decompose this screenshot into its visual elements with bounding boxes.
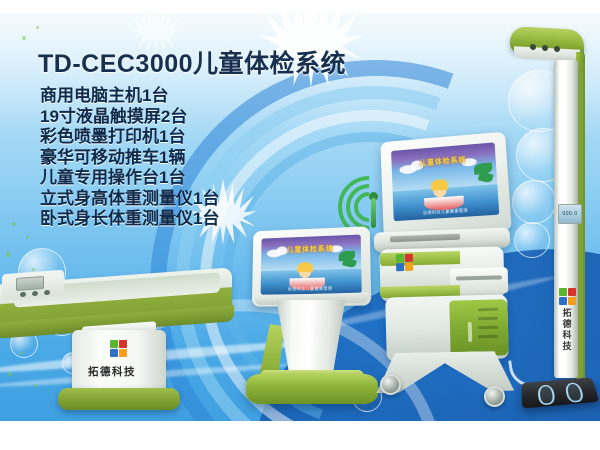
brand-logo-text-vertical: 拓德科技 [560,308,574,352]
kiosk-screen[interactable]: 儿童体检系统 拓德科技儿童健康管理 [261,235,362,295]
device-standing-height-weight-analyzer: 000.0 拓德科技 [492,22,600,422]
spec-item: 豪华可移动推车1辆 [40,148,219,169]
stadiometer-lcd-value: 000.0 [559,205,581,223]
footprint-icon [537,384,556,405]
bed-control-display [16,276,44,291]
spec-item: 卧式身长体重测量仪1台 [40,209,219,230]
cart-screen[interactable]: 儿童体检系统 拓德科技儿童健康管理 [391,142,499,221]
stadiometer-lcd-display: 000.0 [558,204,582,224]
brand-logo-mark [559,288,576,305]
bed-base [58,388,180,410]
stadiometer-sensor [530,44,536,50]
brand-logo-text: 拓德科技 [88,364,136,379]
decor-dot [22,36,26,40]
top-white-border [0,0,600,13]
bottom-white-border [0,421,600,450]
decor-dot [6,252,11,257]
cart-caster-wheel [380,374,401,395]
decor-dot [36,26,39,29]
kiosk-base [246,374,378,404]
cart-green-band [380,251,460,266]
spec-item: 儿童专用操作台1台 [40,168,219,189]
spec-list: 商用电脑主机1台 19寸液晶触摸屏2台 彩色喷墨打印机1台 豪华可移动推车1辆 … [40,86,219,230]
stadiometer-foot-platform [521,377,599,408]
screen-child-hair [297,262,313,272]
page-title: TD-CEC3000儿童体检系统 [38,44,346,80]
cart-cabinet-handle[interactable] [468,322,473,342]
spec-item: 彩色喷墨打印机1台 [40,127,219,148]
bed-column: 拓德科技 [72,330,166,392]
device-infant-measuring-bed: 拓德科技 [0,268,240,420]
product-poster: TD-CEC3000儿童体检系统 商用电脑主机1台 19寸液晶触摸屏2台 彩色喷… [0,0,600,450]
decor-dot [12,222,16,226]
footprint-icon [564,382,584,403]
decor-dot [26,236,29,239]
kiosk-stem [272,300,350,374]
brand-logo-mark [396,254,413,271]
spec-item: 商用电脑主机1台 [40,86,219,107]
spec-item: 19寸液晶触摸屏2台 [40,107,219,128]
stadiometer-sensor [554,46,560,52]
device-children-operation-console: 儿童体检系统 拓德科技儿童健康管理 [238,228,388,420]
stadiometer-sensor [542,45,548,51]
brand-logo-mark [110,340,127,357]
screen-child-hair [431,179,448,191]
spec-item: 立式身高体重测量仪1台 [40,189,219,210]
